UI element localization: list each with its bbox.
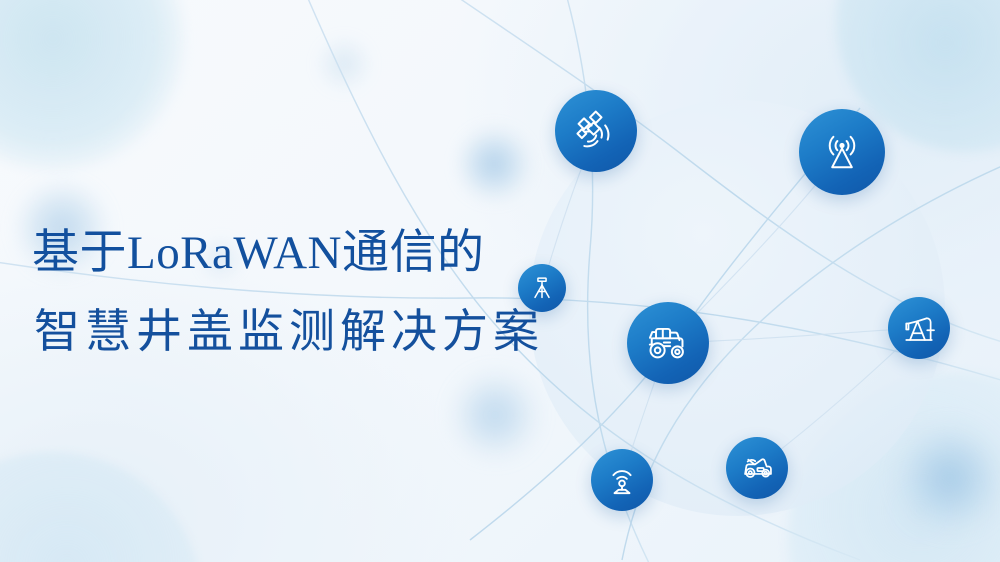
oil-pumpjack-icon — [901, 310, 937, 346]
title-line-2: 智慧井盖监测解决方案 — [32, 303, 544, 359]
background-dot-d — [898, 426, 1000, 530]
background-blob-top-left — [0, 0, 184, 170]
robot-vehicle-icon — [738, 449, 776, 487]
node-tractor[interactable] — [627, 302, 709, 384]
background-blob-bottom-left — [0, 452, 202, 562]
wireless-sensor-icon — [604, 462, 640, 498]
background-dot-c — [452, 372, 538, 458]
node-antenna[interactable] — [799, 109, 885, 195]
node-mower[interactable] — [726, 437, 788, 499]
satellite-icon — [573, 108, 619, 154]
slide-canvas: 基于LoRaWAN通信的 智慧井盖监测解决方案 — [0, 0, 1000, 562]
background-dot-b — [458, 128, 530, 200]
link-mower-pumpjack — [757, 328, 919, 468]
node-sensor[interactable] — [591, 449, 653, 511]
tractor-icon — [643, 318, 693, 368]
node-pumpjack[interactable] — [888, 297, 950, 359]
background-dot-e — [316, 36, 372, 92]
background-blob-bottom-right — [788, 372, 1000, 562]
slide-title-block: 基于LoRaWAN通信的 智慧井盖监测解决方案 — [32, 226, 544, 360]
radio-tower-icon — [818, 128, 866, 176]
title-line-1: 基于LoRaWAN通信的 — [32, 226, 544, 281]
node-satellite[interactable] — [555, 90, 637, 172]
